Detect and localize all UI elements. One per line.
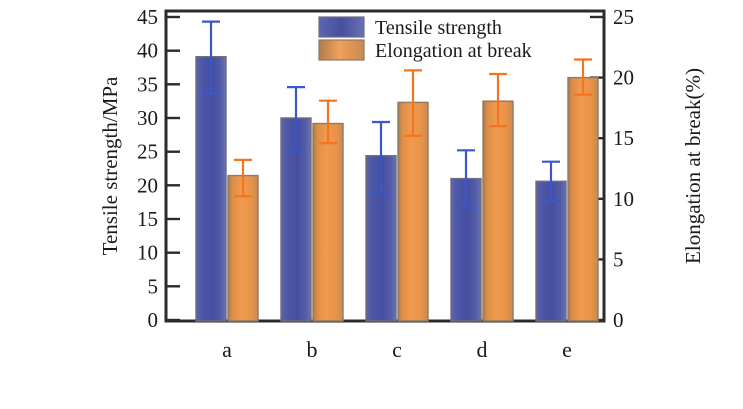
cat-label-d: d [477,337,488,362]
left-tick-label: 10 [137,241,158,265]
left-tick-label: 25 [137,140,158,164]
cat-label-c: c [392,337,402,362]
legend-item-elongation-at-break[interactable]: Elongation at break [319,40,532,62]
legend-label-elongation-at-break: Elongation at break [375,40,532,62]
bar-chart-figure: 0 5 10 15 20 25 30 35 40 45 0 5 10 15 20… [0,0,743,409]
y2-axis-title: Elongation at break(%) [681,68,705,264]
legend-swatch-elongation-at-break [319,40,364,60]
bar-elongation-a[interactable] [228,176,258,321]
left-tick-label: 15 [137,207,158,231]
right-tick-label: 20 [613,66,634,90]
right-tick-label: 5 [613,247,624,271]
left-tick-label: 35 [137,72,158,96]
left-tick-label: 5 [148,274,159,298]
right-tick-label: 15 [613,126,634,150]
legend-label-tensile-strength: Tensile strength [375,17,502,39]
right-tick-label: 0 [613,308,624,332]
bar-elongation-d[interactable] [483,101,513,321]
left-tick-label: 45 [137,5,158,29]
legend-swatch-tensile-strength [319,17,364,37]
left-tick-label: 20 [137,173,158,197]
legend: Tensile strength Elongation at break [319,17,532,62]
right-tick-label: 10 [613,187,634,211]
left-tick-label: 40 [137,39,158,63]
left-tick-label: 0 [148,308,159,332]
cat-label-b: b [307,337,318,362]
bar-tensile-a[interactable] [196,57,226,321]
bar-elongation-e[interactable] [568,78,598,321]
y-axis-title: Tensile strength/MPa [98,76,122,255]
cat-label-e: e [562,337,572,362]
left-tick-label: 30 [137,106,158,130]
legend-item-tensile-strength[interactable]: Tensile strength [319,17,502,39]
cat-label-a: a [222,337,232,362]
bar-elongation-b[interactable] [313,124,343,322]
bar-tensile-e[interactable] [536,181,566,321]
right-tick-label: 25 [613,5,634,29]
